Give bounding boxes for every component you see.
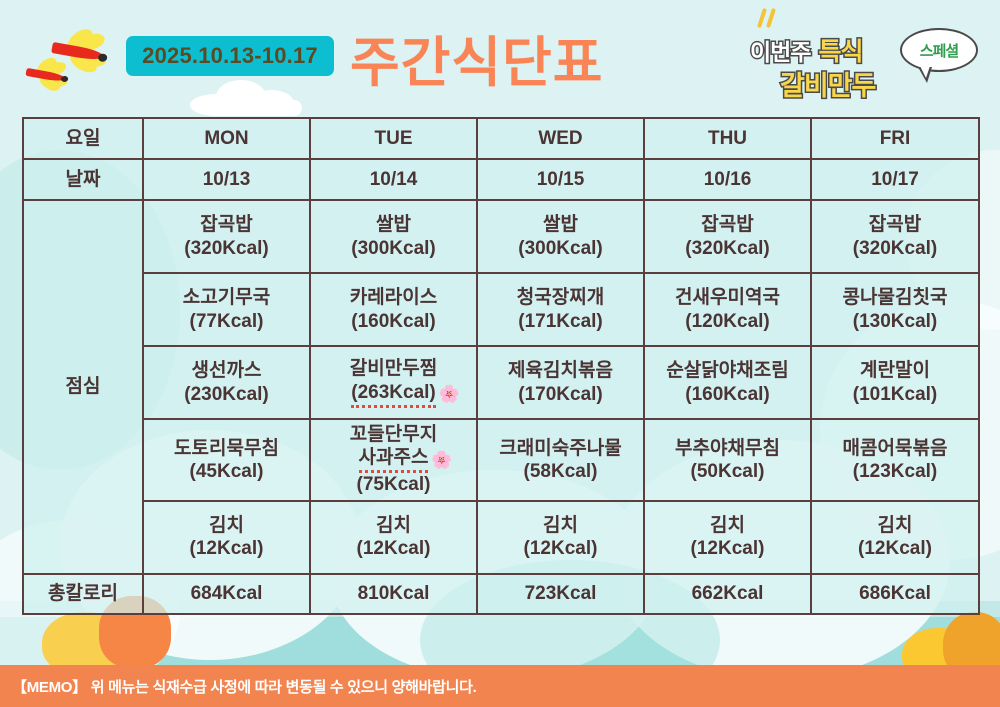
dish-name-secondary: 사과주스 — [359, 446, 429, 473]
meal-cell-wed-4: 크래미숙주나물 (58Kcal) — [477, 419, 644, 501]
speech-bubble-icon: 스페셜 — [900, 28, 978, 72]
page-title: 주간식단표 — [350, 18, 603, 97]
dish-name: 잡곡밥 — [647, 213, 808, 236]
meal-cell-wed-2: 청국장찌개 (171Kcal) — [477, 273, 644, 346]
dish-name: 부추야채무침 — [647, 437, 808, 460]
special-menu-badge: 이번주 특식 스페셜 갈비만두 — [732, 6, 982, 106]
dish-name: 건새우미역국 — [647, 286, 808, 309]
dish-kcal: (171Kcal) — [480, 310, 641, 333]
row-label-day: 요일 — [23, 118, 143, 159]
table-row-totals: 총칼로리 684Kcal 810Kcal 723Kcal 662Kcal 686… — [23, 574, 979, 614]
dish-name: 김치 — [480, 514, 641, 537]
meal-cell-fri-5: 김치 (12Kcal) — [811, 501, 979, 574]
day-header-mon: MON — [143, 118, 310, 159]
dish-name: 제육김치볶음 — [480, 359, 641, 382]
table-row-meal-2: 소고기무국 (77Kcal) 카레라이스 (160Kcal) 청국장찌개 (17… — [23, 273, 979, 346]
dish-kcal: (58Kcal) — [480, 460, 641, 483]
total-tue: 810Kcal — [310, 574, 477, 614]
special-highlight-label: 특식 — [818, 32, 862, 68]
sparkle-lines-icon — [760, 8, 778, 33]
meal-cell-fri-3: 계란말이 (101Kcal) — [811, 346, 979, 419]
dish-kcal: (263Kcal) — [351, 381, 436, 408]
dish-kcal: (230Kcal) — [146, 383, 307, 406]
dish-name: 순살닭야채조림 — [647, 359, 808, 382]
table-row-days: 요일 MON TUE WED THU FRI — [23, 118, 979, 159]
dish-kcal: (170Kcal) — [480, 383, 641, 406]
special-dish-wrapper: 사과주스 🌸 — [359, 446, 429, 473]
dish-kcal: (45Kcal) — [146, 460, 307, 483]
day-header-thu: THU — [644, 118, 811, 159]
meal-cell-wed-1: 쌀밥 (300Kcal) — [477, 200, 644, 273]
meal-cell-wed-3: 제육김치볶음 (170Kcal) — [477, 346, 644, 419]
menu-table-container: 요일 MON TUE WED THU FRI 날짜 10/13 10/14 10… — [22, 117, 978, 615]
dish-kcal: (320Kcal) — [146, 237, 307, 260]
meal-cell-thu-4: 부추야채무침 (50Kcal) — [644, 419, 811, 501]
dish-kcal: (300Kcal) — [480, 237, 641, 260]
dish-kcal: (320Kcal) — [814, 237, 976, 260]
special-badge-line1: 이번주 특식 — [750, 32, 863, 68]
dish-name: 계란말이 — [814, 359, 976, 382]
dish-name: 생선까스 — [146, 359, 307, 382]
date-range-badge: 2025.10.13-10.17 — [126, 36, 334, 76]
dish-kcal: (320Kcal) — [647, 237, 808, 260]
dish-name: 콩나물김칫국 — [814, 286, 976, 309]
dish-name: 김치 — [313, 514, 474, 537]
meal-cell-mon-1: 잡곡밥 (320Kcal) — [143, 200, 310, 273]
special-kcal-wrapper: (263Kcal) 🌸 — [351, 381, 436, 408]
meal-cell-thu-2: 건새우미역국 (120Kcal) — [644, 273, 811, 346]
dish-kcal: (12Kcal) — [647, 537, 808, 560]
dish-kcal: (12Kcal) — [313, 537, 474, 560]
table-row-meal-3: 생선까스 (230Kcal) 갈비만두찜 (263Kcal) 🌸 제육김치볶음 … — [23, 346, 979, 419]
dish-name: 크래미숙주나물 — [480, 437, 641, 460]
dish-kcal: (130Kcal) — [814, 310, 976, 333]
date-mon: 10/13 — [143, 159, 310, 200]
meal-cell-fri-1: 잡곡밥 (320Kcal) — [811, 200, 979, 273]
dish-kcal: (160Kcal) — [647, 383, 808, 406]
day-header-wed: WED — [477, 118, 644, 159]
date-fri: 10/17 — [811, 159, 979, 200]
meal-cell-fri-2: 콩나물김칫국 (130Kcal) — [811, 273, 979, 346]
meal-cell-thu-5: 김치 (12Kcal) — [644, 501, 811, 574]
special-prefix-label: 이번주 — [750, 33, 810, 67]
row-label-lunch: 점심 — [23, 200, 143, 574]
dish-name: 카레라이스 — [313, 286, 474, 309]
meal-cell-mon-3: 생선까스 (230Kcal) — [143, 346, 310, 419]
table-row-dates: 날짜 10/13 10/14 10/15 10/16 10/17 — [23, 159, 979, 200]
dish-name: 잡곡밥 — [814, 213, 976, 236]
dish-kcal: (77Kcal) — [146, 310, 307, 333]
meal-cell-tue-3-special: 갈비만두찜 (263Kcal) 🌸 — [310, 346, 477, 419]
meal-cell-thu-1: 잡곡밥 (320Kcal) — [644, 200, 811, 273]
memo-text: 【MEMO】 위 메뉴는 식재수급 사정에 따라 변동될 수 있으니 양해바랍니… — [0, 676, 477, 697]
dish-kcal: (101Kcal) — [814, 383, 976, 406]
dish-name: 쌀밥 — [480, 213, 641, 236]
weekly-menu-table: 요일 MON TUE WED THU FRI 날짜 10/13 10/14 10… — [22, 117, 980, 615]
dish-name: 김치 — [146, 514, 307, 537]
dish-name: 갈비만두찜 — [313, 357, 474, 380]
memo-bar: 【MEMO】 위 메뉴는 식재수급 사정에 따라 변동될 수 있으니 양해바랍니… — [0, 665, 1000, 707]
dish-kcal: (12Kcal) — [146, 537, 307, 560]
meal-cell-tue-1: 쌀밥 (300Kcal) — [310, 200, 477, 273]
meal-cell-tue-2: 카레라이스 (160Kcal) — [310, 273, 477, 346]
dish-kcal: (160Kcal) — [313, 310, 474, 333]
meal-cell-wed-5: 김치 (12Kcal) — [477, 501, 644, 574]
total-fri: 686Kcal — [811, 574, 979, 614]
dish-name: 김치 — [647, 514, 808, 537]
table-row-meal-5: 김치 (12Kcal) 김치 (12Kcal) 김치 (12Kcal) 김치 (… — [23, 501, 979, 574]
dish-kcal: (300Kcal) — [313, 237, 474, 260]
meal-cell-tue-5: 김치 (12Kcal) — [310, 501, 477, 574]
total-wed: 723Kcal — [477, 574, 644, 614]
row-label-date: 날짜 — [23, 159, 143, 200]
row-label-total: 총칼로리 — [23, 574, 143, 614]
meal-cell-mon-5: 김치 (12Kcal) — [143, 501, 310, 574]
day-header-fri: FRI — [811, 118, 979, 159]
dish-name: 도토리묵무침 — [146, 437, 307, 460]
dish-kcal: (12Kcal) — [480, 537, 641, 560]
dish-kcal: (120Kcal) — [647, 310, 808, 333]
total-mon: 684Kcal — [143, 574, 310, 614]
date-wed: 10/15 — [477, 159, 644, 200]
meal-cell-mon-4: 도토리묵무침 (45Kcal) — [143, 419, 310, 501]
date-tue: 10/14 — [310, 159, 477, 200]
dish-name: 김치 — [814, 514, 976, 537]
flower-icon: 🌸 — [439, 386, 460, 403]
mint-ground-band — [0, 617, 1000, 665]
meal-plan-page: 2025.10.13-10.17 주간식단표 이번주 특식 스페셜 갈비만두 — [0, 0, 1000, 707]
dish-name: 쌀밥 — [313, 213, 474, 236]
dish-kcal: (123Kcal) — [814, 460, 976, 483]
dish-name: 잡곡밥 — [146, 213, 307, 236]
dish-kcal: (50Kcal) — [647, 460, 808, 483]
meal-cell-thu-3: 순살닭야채조림 (160Kcal) — [644, 346, 811, 419]
table-row-meal-4: 도토리묵무침 (45Kcal) 꼬들단무지 사과주스 🌸 (75Kcal) 크래… — [23, 419, 979, 501]
dish-name: 청국장찌개 — [480, 286, 641, 309]
day-header-tue: TUE — [310, 118, 477, 159]
dish-kcal: (12Kcal) — [814, 537, 976, 560]
special-bubble-label: 스페셜 — [920, 40, 958, 61]
dish-name: 소고기무국 — [146, 286, 307, 309]
total-thu: 662Kcal — [644, 574, 811, 614]
meal-cell-tue-4-special: 꼬들단무지 사과주스 🌸 (75Kcal) — [310, 419, 477, 501]
special-dish-label: 갈비만두 — [780, 64, 875, 103]
table-row-meal-1: 점심 잡곡밥 (320Kcal) 쌀밥 (300Kcal) 쌀밥 (300Kca… — [23, 200, 979, 273]
date-thu: 10/16 — [644, 159, 811, 200]
dish-name: 매콤어묵볶음 — [814, 437, 976, 460]
dish-kcal: (75Kcal) — [313, 473, 474, 496]
dish-name: 꼬들단무지 — [313, 423, 474, 446]
meal-cell-fri-4: 매콤어묵볶음 (123Kcal) — [811, 419, 979, 501]
flower-icon: 🌸 — [431, 451, 452, 468]
meal-cell-mon-2: 소고기무국 (77Kcal) — [143, 273, 310, 346]
